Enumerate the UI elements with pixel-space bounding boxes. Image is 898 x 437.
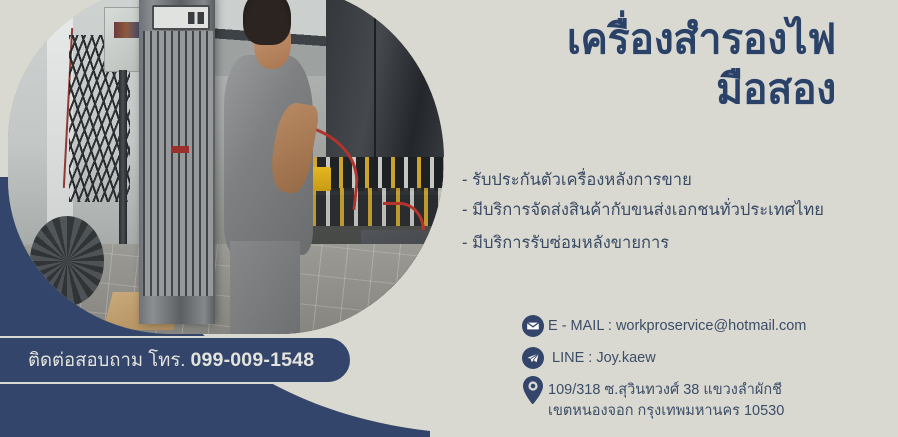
- list-item: - มีบริการจัดส่งสินค้ากับขนส่งเอกชนทั่วป…: [462, 202, 882, 219]
- title-line-1: เครื่องสำรองไฟ: [567, 16, 836, 62]
- photo-ups-vents: [143, 31, 213, 295]
- line-text: LINE : Joy.kaew: [548, 345, 656, 369]
- photo-cabinet-seam: [374, 0, 376, 167]
- telegram-icon: [518, 345, 548, 371]
- contact-row-email[interactable]: E - MAIL : workproservice@hotmail.com: [518, 313, 884, 339]
- photo-technician: [213, 0, 322, 334]
- phone-number: 099-009-1548: [190, 349, 314, 372]
- list-item: - รับประกันตัวเครื่องหลังการขาย: [462, 172, 882, 189]
- photo-fan: [30, 216, 104, 306]
- page-title: เครื่องสำรองไฟ มือสอง: [416, 14, 836, 114]
- address-text: 109/318 ซ.สุวินทวงศ์ 38 แขวงลำผักชี เขตห…: [548, 377, 784, 421]
- photo-technician-pants: [230, 241, 300, 334]
- contact-row-address[interactable]: 109/318 ซ.สุวินทวงศ์ 38 แขวงลำผักชี เขตห…: [518, 377, 884, 421]
- location-pin-icon: [518, 377, 548, 403]
- hero-photo: [8, 0, 444, 334]
- promo-banner: เครื่องสำรองไฟ มือสอง - รับประกันตัวเครื…: [0, 0, 898, 437]
- phone-badge-label: ติดต่อสอบถาม โทร.: [28, 346, 185, 375]
- email-text: E - MAIL : workproservice@hotmail.com: [548, 313, 806, 337]
- contact-info: E - MAIL : workproservice@hotmail.com LI…: [518, 313, 884, 421]
- title-line-2: มือสอง: [416, 64, 836, 114]
- photo-technician-hair: [243, 0, 291, 45]
- list-item: - มีบริการรับซ่อมหลังขายการ: [462, 235, 882, 252]
- feature-list: - รับประกันตัวเครื่องหลังการขาย - มีบริก…: [462, 172, 882, 265]
- photo-ups-logo: [171, 146, 188, 153]
- envelope-icon: [518, 313, 548, 339]
- phone-badge[interactable]: ติดต่อสอบถาม โทร. 099-009-1548: [0, 336, 352, 384]
- photo-ups-display: [152, 5, 211, 30]
- contact-row-line[interactable]: LINE : Joy.kaew: [518, 345, 884, 371]
